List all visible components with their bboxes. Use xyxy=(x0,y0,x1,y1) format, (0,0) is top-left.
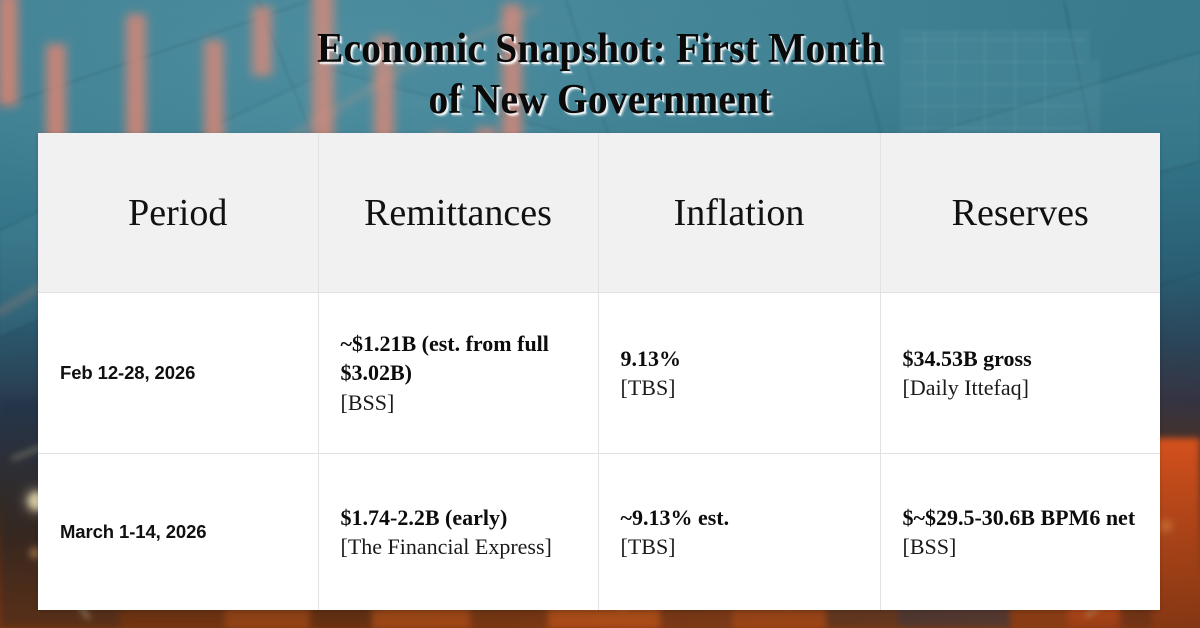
metric-source: [BSS] xyxy=(903,532,1139,561)
metric-value: ~$1.21B (est. from full $3.02B) xyxy=(341,329,576,388)
metric-value: ~9.13% est. xyxy=(621,503,858,532)
table-row: March 1-14, 2026 $1.74-2.2B (early) [The… xyxy=(38,454,1160,611)
cell-reserves: $~$29.5-30.6B BPM6 net [BSS] xyxy=(880,454,1160,611)
table-header-row: Period Remittances Inflation Reserves xyxy=(38,133,1160,293)
page-title-line-1: Economic Snapshot: First Month xyxy=(36,24,1164,75)
cell-inflation: 9.13% [TBS] xyxy=(598,293,880,454)
metric-source: [TBS] xyxy=(621,373,858,402)
cell-period: Feb 12-28, 2026 xyxy=(38,293,318,454)
table-body: Feb 12-28, 2026 ~$1.21B (est. from full … xyxy=(38,293,1160,611)
cell-period: March 1-14, 2026 xyxy=(38,454,318,611)
metric-value: $1.74-2.2B (early) xyxy=(341,503,576,532)
page-title-line-2: of New Government xyxy=(36,75,1164,126)
cell-remittances: $1.74-2.2B (early) [The Financial Expres… xyxy=(318,454,598,611)
column-header-remittances: Remittances xyxy=(318,133,598,293)
column-header-reserves: Reserves xyxy=(880,133,1160,293)
metric-value: 9.13% xyxy=(621,344,858,373)
page-title: Economic Snapshot: First Month of New Go… xyxy=(36,24,1164,126)
cell-reserves: $34.53B gross [Daily Ittefaq] xyxy=(880,293,1160,454)
infographic-canvas: Economic Snapshot: First Month of New Go… xyxy=(0,0,1200,628)
cell-remittances: ~$1.21B (est. from full $3.02B) [BSS] xyxy=(318,293,598,454)
metric-source: [Daily Ittefaq] xyxy=(903,373,1139,402)
metric-value: $34.53B gross xyxy=(903,344,1139,373)
metric-source: [BSS] xyxy=(341,388,576,417)
metric-source: [The Financial Express] xyxy=(341,532,576,561)
metric-value: $~$29.5-30.6B BPM6 net xyxy=(903,503,1139,532)
column-header-period: Period xyxy=(38,133,318,293)
table-header: Period Remittances Inflation Reserves xyxy=(38,133,1160,293)
economic-indicators-table: Period Remittances Inflation Reserves Fe… xyxy=(38,133,1160,610)
table-row: Feb 12-28, 2026 ~$1.21B (est. from full … xyxy=(38,293,1160,454)
column-header-inflation: Inflation xyxy=(598,133,880,293)
cell-inflation: ~9.13% est. [TBS] xyxy=(598,454,880,611)
metric-source: [TBS] xyxy=(621,532,858,561)
